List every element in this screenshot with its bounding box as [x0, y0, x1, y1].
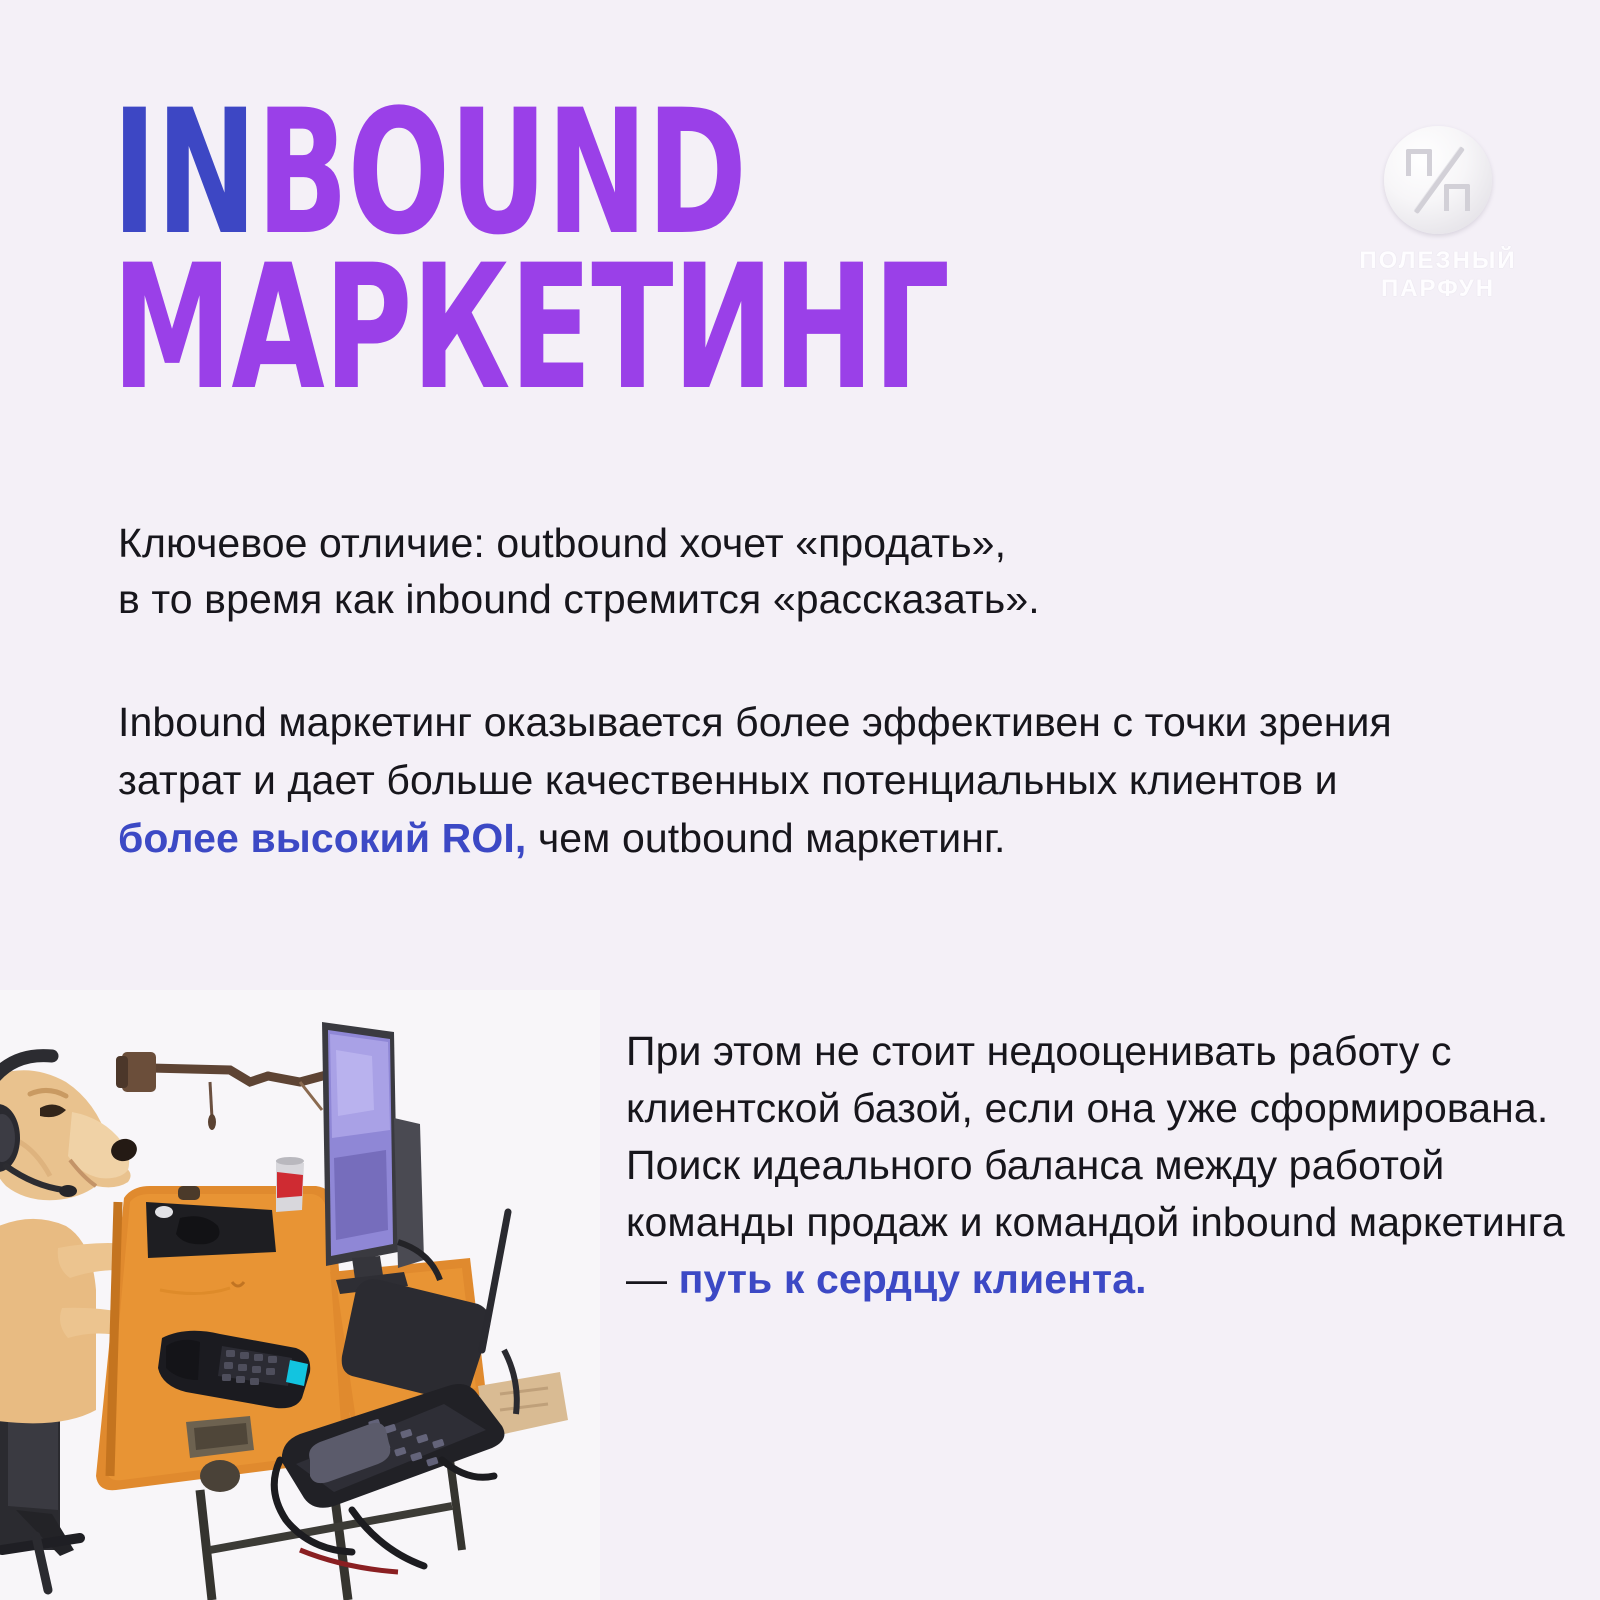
pill-letter-top-icon: [1406, 149, 1432, 176]
photo-illustration: [0, 990, 600, 1600]
paragraph-effectiveness-text-before: Inbound маркетинг оказывается более эффе…: [118, 699, 1392, 803]
soda-can-icon: [276, 1157, 304, 1212]
pill-letter-bottom-icon: [1444, 184, 1470, 211]
paragraph-effectiveness: Inbound маркетинг оказывается более эффе…: [118, 693, 1448, 867]
brand-caption-line-1: ПОЛЕЗНЫЙ: [1350, 247, 1526, 275]
slide-root: INBOUND МАРКЕТИНГ ПОЛЕЗНЫЙ ПАРФУН Ключев…: [0, 0, 1600, 1600]
desk-knob-icon: [178, 1186, 200, 1200]
mousepad-icon: [146, 1202, 276, 1258]
paragraph-balance-highlight: путь к сердцу клиента.: [679, 1256, 1147, 1302]
paragraph-balance-dash: —: [626, 1256, 679, 1302]
page-title: INBOUND МАРКЕТИНГ: [112, 96, 1212, 406]
title-line-2: МАРКЕТИНГ: [112, 251, 970, 406]
paragraph-balance-text-before: При этом не стоит недооценивать работу с…: [626, 1028, 1565, 1245]
paragraph-effectiveness-text-after: чем outbound маркетинг.: [526, 815, 1005, 861]
paragraph-key-difference: Ключевое отличие: outbound хочет «продат…: [118, 515, 1448, 627]
brand-caption: ПОЛЕЗНЫЙ ПАРФУН: [1350, 247, 1526, 304]
brand-caption-line-2: ПАРФУН: [1350, 275, 1526, 303]
photo-dog-at-desk: [0, 990, 600, 1600]
paragraph-effectiveness-highlight: более высокий ROI,: [118, 815, 526, 861]
paragraph-balance: При этом не стоит недооценивать работу с…: [626, 1023, 1566, 1308]
brand-logo: ПОЛЕЗНЫЙ ПАРФУН: [1350, 126, 1526, 304]
pill-icon: [1384, 126, 1492, 234]
